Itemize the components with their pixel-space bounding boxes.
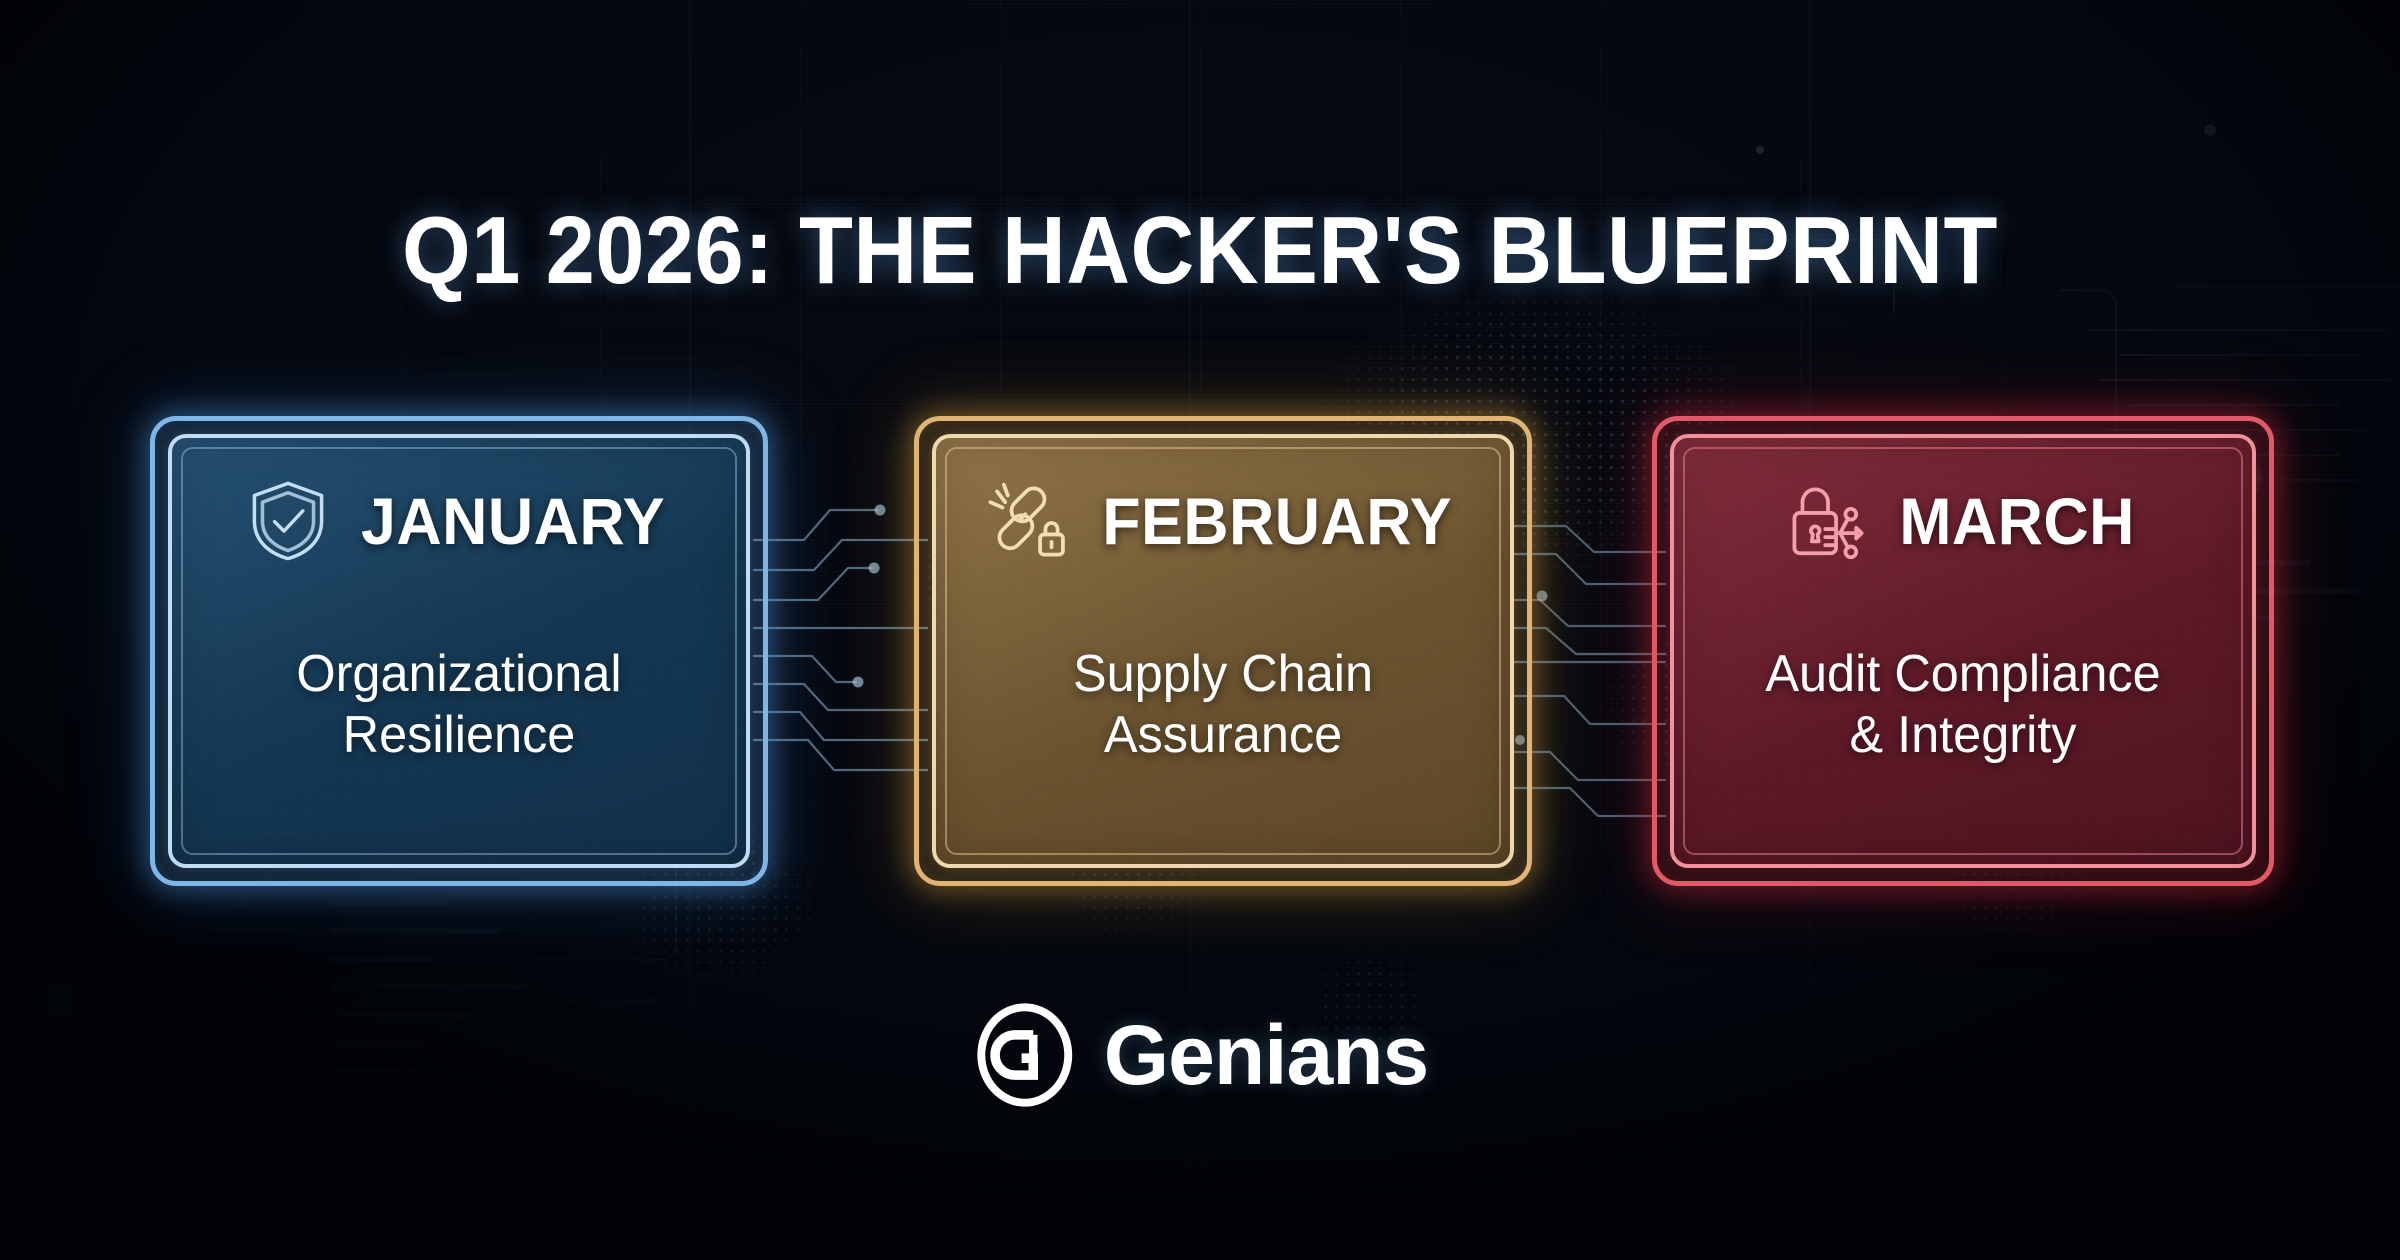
month-card-february[interactable]: FEBRUARY Supply Chain Assurance bbox=[914, 416, 1532, 886]
broken-chain-lock-icon bbox=[985, 478, 1071, 564]
card-month-label: MARCH bbox=[1899, 483, 2135, 559]
shield-check-icon bbox=[245, 478, 331, 564]
circuit-connector-january-february bbox=[752, 440, 928, 860]
card-theme-line-2: Assurance bbox=[1104, 706, 1342, 764]
card-theme-line-1: Organizational bbox=[296, 645, 621, 703]
card-theme-line-1: Audit Compliance bbox=[1765, 645, 2160, 703]
card-month-label: FEBRUARY bbox=[1102, 483, 1452, 559]
card-theme-line-1: Supply Chain bbox=[1073, 645, 1373, 703]
month-card-january[interactable]: JANUARY Organizational Resilience bbox=[150, 416, 768, 886]
padlock-network-icon bbox=[1785, 478, 1871, 564]
card-theme-line-2: Resilience bbox=[343, 706, 576, 764]
card-theme-label: Supply Chain Assurance bbox=[968, 644, 1478, 767]
brand-logo: Genians bbox=[972, 1002, 1428, 1108]
card-month-label: JANUARY bbox=[361, 483, 665, 559]
genians-circle-g-logo-icon bbox=[972, 1002, 1078, 1108]
card-theme-line-2: & Integrity bbox=[1849, 706, 2076, 764]
card-theme-label: Audit Compliance & Integrity bbox=[1706, 644, 2220, 767]
month-card-march[interactable]: MARCH Audit Compliance & Integrity bbox=[1652, 416, 2274, 886]
infographic-canvas: Q1 2026: THE HACKER'S BLUEPRINT bbox=[0, 0, 2400, 1260]
page-title: Q1 2026: THE HACKER'S BLUEPRINT bbox=[96, 196, 2304, 306]
card-theme-label: Organizational Resilience bbox=[204, 644, 714, 767]
brand-name: Genians bbox=[1104, 1007, 1428, 1104]
